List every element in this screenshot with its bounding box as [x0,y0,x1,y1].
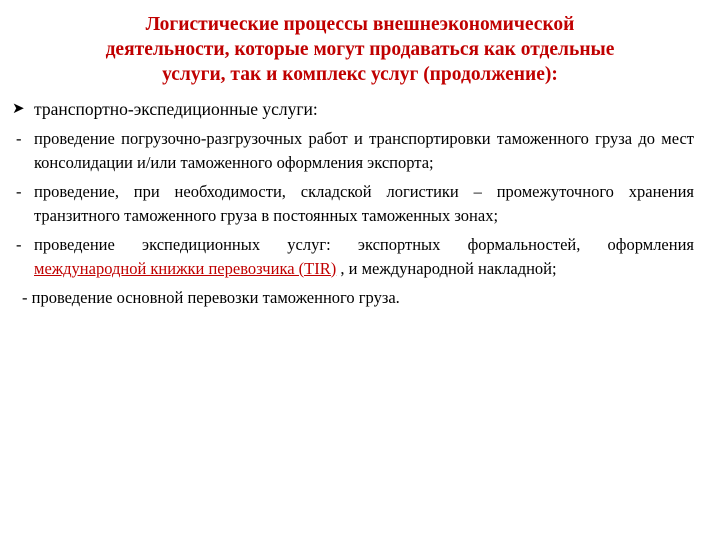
list-item-3-text-after: , и международной накладной; [336,259,556,278]
list-item-2-text: проведение, при необходимости, складской… [34,182,694,225]
title-line-3: услуги, так и комплекс услуг (продолжени… [18,62,702,87]
list-item-3-text-before: проведение экспедиционных услуг: экспорт… [34,235,694,254]
dash-bullet-icon: - [16,127,22,151]
arrow-bullet-icon: ➤ [12,98,25,121]
list-item-2: - проведение, при необходимости, складск… [12,180,712,227]
title-line-1: Логистические процессы внешнеэкономическ… [18,12,702,37]
title-line-2: деятельности, которые могут продаваться … [18,37,702,62]
highlighted-term-tir: международной книжки перевозчика (TIR) [34,259,336,278]
list-item-4: - проведение основной перевозки таможенн… [12,286,712,310]
dash-bullet-icon: - [16,233,22,257]
slide-body: ➤ транспортно-экспедиционные услуги: - п… [12,98,712,312]
bullet-transport-services: ➤ транспортно-экспедиционные услуги: [12,98,712,121]
list-item-4-text: - проведение основной перевозки таможенн… [22,288,400,307]
dash-bullet-icon: - [16,180,22,204]
slide-canvas: Логистические процессы внешнеэкономическ… [0,0,720,540]
bullet-transport-services-label: транспортно-экспедиционные услуги: [34,99,318,119]
list-item-1: - проведение погрузочно-разгрузочных раб… [12,127,712,174]
list-item-3: - проведение экспедиционных услуг: экспо… [12,233,712,280]
list-item-1-text: проведение погрузочно-разгрузочных работ… [34,129,694,172]
slide-title: Логистические процессы внешнеэкономическ… [18,12,702,87]
